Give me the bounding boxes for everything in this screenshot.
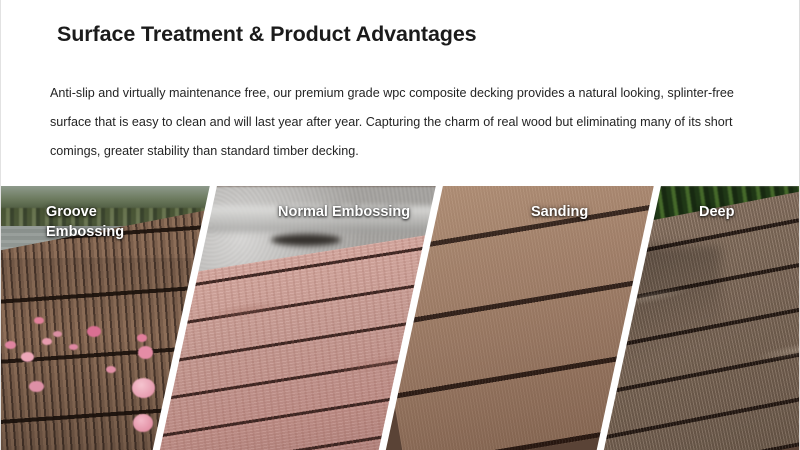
panel-label-groove-embossing: Groove Embossing	[46, 202, 124, 242]
rose-petal	[137, 334, 147, 342]
rose-petal	[87, 326, 101, 337]
rose-petal	[42, 338, 52, 345]
page-root: Surface Treatment & Product Advantages A…	[0, 0, 800, 450]
rose-petal	[53, 331, 62, 337]
intro-section: Surface Treatment & Product Advantages A…	[1, 0, 800, 186]
rose-flower	[132, 378, 155, 398]
rose-petal	[138, 346, 153, 359]
panel-label-normal-embossing: Normal Embossing	[278, 202, 410, 222]
background-dark-object	[271, 234, 341, 246]
intro-paragraph: Anti-slip and virtually maintenance free…	[50, 79, 762, 166]
panel-label-deep: Deep	[699, 202, 734, 222]
rose-petal	[106, 366, 116, 373]
page-title: Surface Treatment & Product Advantages	[57, 22, 477, 47]
rose-petal	[21, 352, 34, 362]
surface-gallery: Groove Embossing Normal Embossing Sandin…	[1, 186, 800, 450]
rose-flower	[133, 414, 153, 432]
rose-petal	[29, 381, 44, 392]
rose-petal	[5, 341, 16, 349]
panel-label-sanding: Sanding	[531, 202, 588, 222]
rose-petal	[69, 344, 78, 350]
rose-petal	[34, 317, 44, 324]
